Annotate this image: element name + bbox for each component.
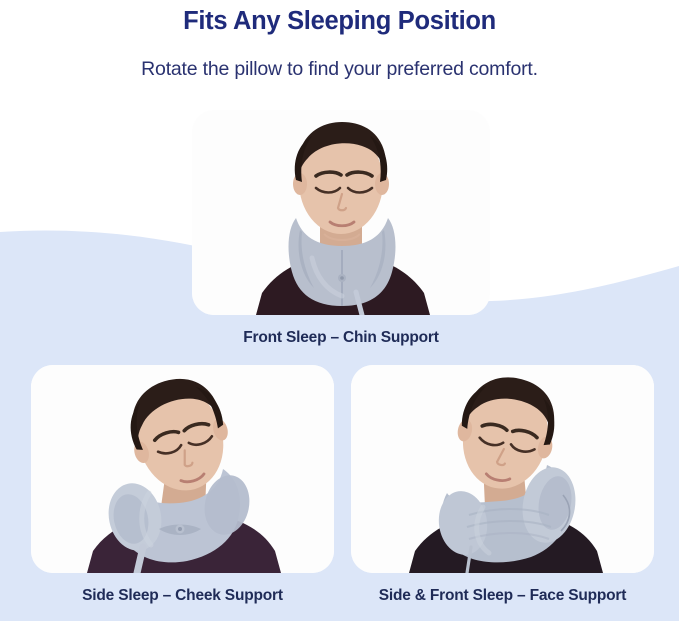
page-subtitle: Rotate the pillow to find your preferred… (0, 38, 679, 82)
photo-side-front-sleep (351, 365, 654, 573)
photo-side-sleep (31, 365, 334, 573)
photo-front-sleep (192, 110, 490, 315)
caption-side-sleep: Side Sleep – Cheek Support (20, 586, 345, 606)
photo-card-front-sleep[interactable] (192, 110, 490, 315)
photo-card-side-sleep[interactable] (31, 365, 334, 573)
header: Fits Any Sleeping Position Rotate the pi… (0, 0, 679, 82)
page-title: Fits Any Sleeping Position (0, 0, 679, 38)
infographic-root: Fits Any Sleeping Position Rotate the pi… (0, 0, 679, 621)
caption-front-sleep: Front Sleep – Chin Support (192, 328, 490, 348)
photo-card-side-front-sleep[interactable] (351, 365, 654, 573)
caption-side-front-sleep: Side & Front Sleep – Face Support (340, 586, 665, 606)
